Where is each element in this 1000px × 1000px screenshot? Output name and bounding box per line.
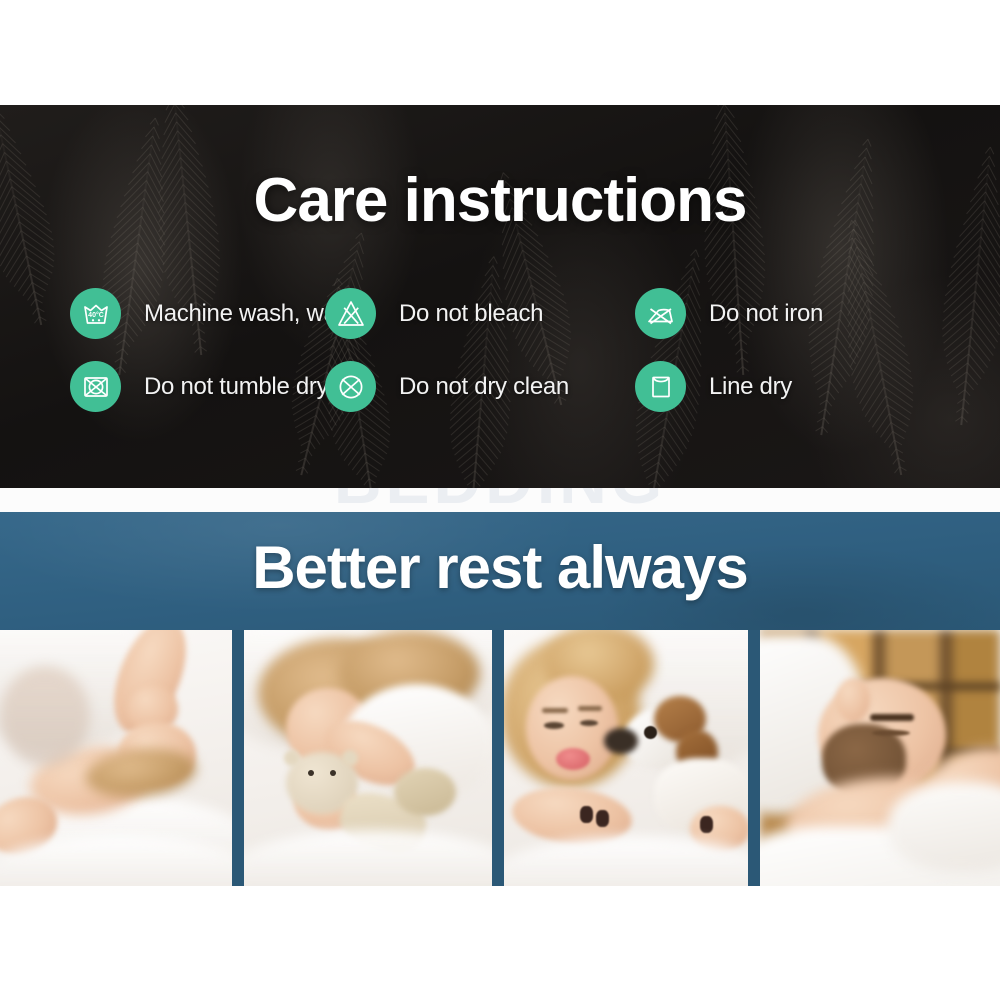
care-instructions-panel: Care instructions 40°C Machine wash, war… — [0, 105, 1000, 488]
photo-woman-sleeping-arm-raised — [0, 630, 232, 886]
photo-woman-with-dog — [504, 630, 748, 886]
lifestyle-photo-strip — [0, 630, 1000, 886]
product-listing-image: Care instructions 40°C Machine wash, war… — [0, 0, 1000, 1000]
care-item-do-not-dry-clean: Do not dry clean — [320, 350, 635, 423]
do-not-bleach-icon — [325, 288, 376, 339]
care-item-do-not-iron: Do not iron — [635, 277, 1000, 350]
photo-divider — [748, 630, 760, 886]
do-not-iron-icon — [635, 288, 686, 339]
top-white-margin — [0, 0, 1000, 105]
mid-white-gap: BEDDING — [0, 488, 1000, 512]
care-item-label: Do not iron — [709, 300, 823, 328]
care-row-1: 40°C Machine wash, warm — [0, 277, 1000, 350]
care-instructions-grid: 40°C Machine wash, warm — [0, 277, 1000, 423]
line-dry-icon — [635, 361, 686, 412]
photo-child-sleeping-with-teddy — [244, 630, 492, 886]
machine-wash-warm-icon: 40°C — [70, 288, 121, 339]
care-item-label: Do not tumble dry — [144, 373, 328, 401]
care-instructions-title: Care instructions — [0, 170, 1000, 232]
svg-text:40°C: 40°C — [88, 311, 104, 319]
care-item-do-not-bleach: Do not bleach — [320, 277, 635, 350]
do-not-tumble-dry-icon — [70, 361, 121, 412]
watermark-text: BEDDING — [0, 488, 1000, 512]
better-rest-banner: Better rest always — [0, 512, 1000, 630]
care-item-machine-wash-warm: 40°C Machine wash, warm — [0, 277, 320, 350]
do-not-dry-clean-icon — [325, 361, 376, 412]
photo-divider — [492, 630, 504, 886]
care-item-label: Do not dry clean — [399, 373, 569, 401]
photo-divider — [232, 630, 244, 886]
bottom-white-margin — [0, 886, 1000, 1000]
banner-title: Better rest always — [0, 538, 1000, 598]
care-item-do-not-tumble-dry: Do not tumble dry — [0, 350, 320, 423]
care-item-label: Line dry — [709, 373, 792, 401]
care-item-line-dry: Line dry — [635, 350, 1000, 423]
care-row-2: Do not tumble dry Do not dry clean — [0, 350, 1000, 423]
photo-man-sleeping — [760, 630, 1000, 886]
care-item-label: Do not bleach — [399, 300, 543, 328]
